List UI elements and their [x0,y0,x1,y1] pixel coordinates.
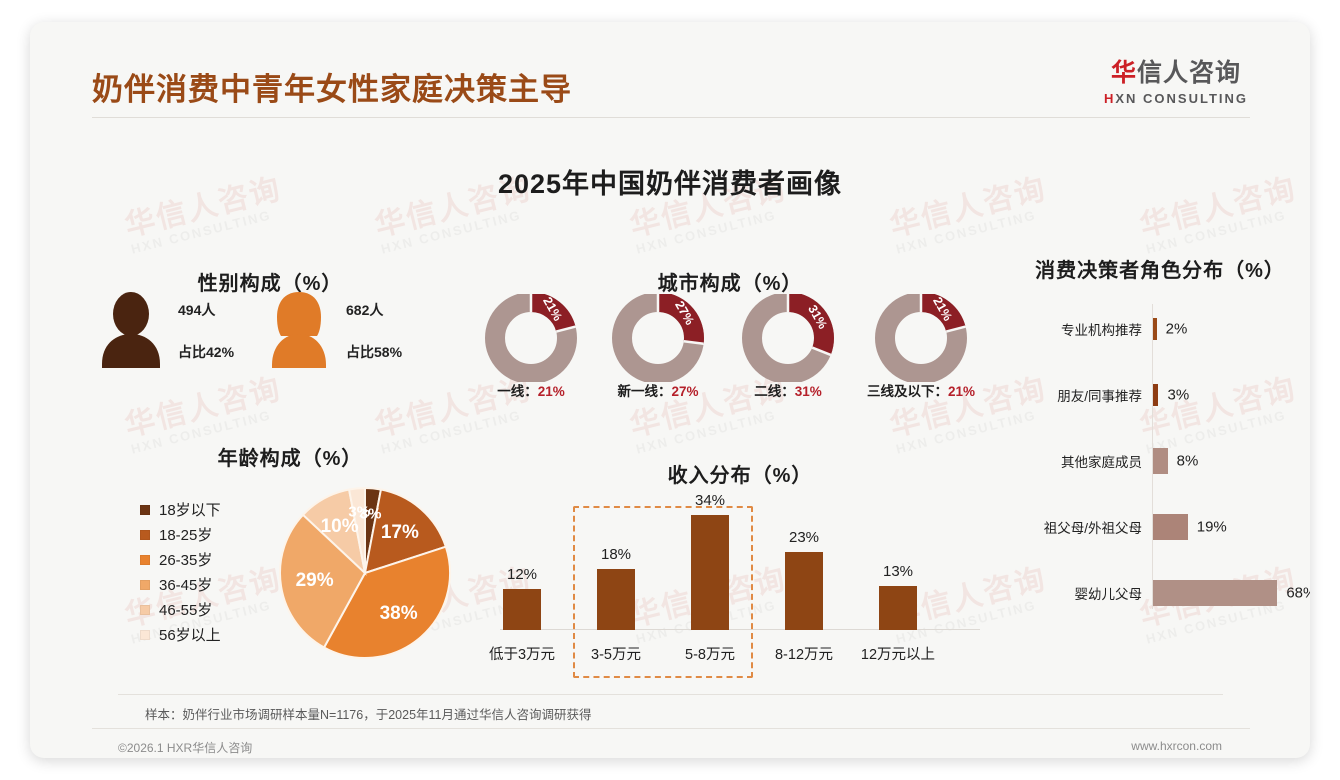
income-bar-value: 13% [883,563,913,580]
legend-item: 46-55岁 [140,597,221,622]
income-bar-value: 23% [789,529,819,546]
donut-caption: 三线及以下：21% [867,380,975,400]
income-bar-value: 34% [695,492,725,509]
age-pie: 3%17%38%29%10%3% [277,485,453,666]
city-donut: 27%新一线：27% [610,294,706,382]
legend-item: 26-35岁 [140,547,221,572]
role-label: 其他家庭成员 [1061,451,1142,471]
source-divider [118,694,1223,695]
role-row: 朋友/同事推荐3% [1015,380,1305,410]
role-bar-value: 2% [1166,321,1188,338]
legend-label: 18-25岁 [159,524,212,545]
donut-caption-name: 二线： [754,384,795,399]
role-row: 其他家庭成员8% [1015,446,1305,476]
female-silhouette-icon [268,290,330,368]
donut-graphic [483,294,579,382]
income-bar-value: 12% [507,566,537,583]
legend-swatch [140,630,150,640]
income-bar-value: 18% [601,546,631,563]
legend-label: 56岁以上 [159,624,221,645]
gender-share: 占比58% [346,342,402,362]
logo-rest-chars: 信人咨询 [1137,59,1241,87]
role-label: 祖父母/外祖父母 [1044,517,1142,537]
female-figure: 682人占比58% [268,290,330,368]
gender-share: 占比42% [178,342,234,362]
logo-h-char: H [1104,91,1115,106]
donut-graphic [873,294,969,382]
role-bar [1153,514,1188,540]
legend-item: 56岁以上 [140,622,221,647]
role-bar-value: 19% [1197,519,1227,536]
legend-label: 18岁以下 [159,499,221,520]
legend-item: 36-45岁 [140,572,221,597]
donut-graphic [740,294,836,382]
company-logo: 华信人咨询 HXN CONSULTING [1104,60,1248,106]
role-bar [1153,448,1168,474]
legend-label: 26-35岁 [159,549,212,570]
donut-caption-value: 27% [671,384,698,399]
city-composition-chart: 21%一线：21%27%新一线：27%31%二线：31%21%三线及以下：21% [465,294,995,404]
income-bar [503,589,541,630]
income-bar-category: 12万元以上 [861,643,935,664]
donut-caption-value: 21% [948,384,975,399]
legend-swatch [140,580,150,590]
header-divider [92,117,1250,118]
donut-caption-name: 一线： [497,384,538,399]
logo-en-rest: XN CONSULTING [1115,91,1248,106]
role-row: 祖父母/外祖父母19% [1015,512,1305,542]
pie-slice-label: 17% [381,522,419,544]
income-bar [785,552,823,630]
donut-caption: 一线：21% [497,380,565,400]
donut-caption-value: 31% [795,384,822,399]
donut-caption-value: 21% [538,384,565,399]
age-legend: 18岁以下18-25岁26-35岁36-45岁46-55岁56岁以上 [140,497,221,647]
age-composition-chart: 18岁以下18-25岁26-35岁36-45岁46-55岁56岁以上 3%17%… [115,477,465,677]
infographic-page: 华信人咨询HXN CONSULTING华信人咨询HXN CONSULTING华信… [0,0,1340,780]
role-row: 专业机构推荐2% [1015,314,1305,344]
role-label: 朋友/同事推荐 [1057,385,1142,405]
donut-caption-name: 新一线： [617,384,671,399]
source-note: 样本：奶伴行业市场调研样本量N=1176，于2025年11月通过华信人咨询调研获… [145,704,592,723]
pie-slice-label: 38% [380,603,418,625]
footer-website: www.hxrcon.com [1131,739,1222,753]
chart-main-title: 2025年中国奶伴消费者画像 [30,162,1310,201]
logo-english: HXN CONSULTING [1104,91,1248,106]
slide-card: 华信人咨询HXN CONSULTING华信人咨询HXN CONSULTING华信… [30,22,1310,758]
income-bar-category: 低于3万元 [489,643,555,664]
donut-graphic [610,294,706,382]
pie-slice-label: 3% [348,504,370,521]
donut-caption-name: 三线及以下： [867,384,948,399]
income-bar-category: 3-5万元 [591,643,641,664]
legend-swatch [140,605,150,615]
gender-stats: 494人占比42% [178,300,234,362]
decision-role-chart: 专业机构推荐2%朋友/同事推荐3%其他家庭成员8%祖父母/外祖父母19%婴幼儿父… [1015,292,1305,622]
income-bar [597,569,635,630]
legend-label: 46-55岁 [159,599,212,620]
age-section-title: 年龄构成（%） [115,442,465,471]
income-distribution-chart: 12%低于3万元18%3-5万元34%5-8万元23%8-12万元13%12万元… [480,462,1000,682]
donut-caption: 二线：31% [754,380,822,400]
role-label: 婴幼儿父母 [1075,583,1143,603]
logo-chinese: 华信人咨询 [1104,60,1248,88]
donut-caption: 新一线：27% [617,380,698,400]
legend-label: 36-45岁 [159,574,212,595]
city-section-title: 城市构成（%） [465,267,995,296]
legend-item: 18-25岁 [140,522,221,547]
pie-slice-label: 29% [296,570,334,592]
gender-count: 494人 [178,300,234,320]
gender-composition-chart: 494人占比42%682人占比58% [100,290,440,390]
legend-swatch [140,505,150,515]
city-donut: 21%三线及以下：21% [873,294,969,382]
role-row: 婴幼儿父母68% [1015,578,1305,608]
logo-hua-char: 华 [1111,59,1137,87]
male-silhouette-icon [100,290,162,368]
gender-count: 682人 [346,300,402,320]
footer-copyright: ©2026.1 HXR华信人咨询 [118,739,252,756]
city-donut: 21%一线：21% [483,294,579,382]
page-title: 奶伴消费中青年女性家庭决策主导 [92,64,572,109]
role-bar-value: 8% [1177,453,1199,470]
role-section-title: 消费决策者角色分布（%） [1015,254,1305,283]
income-bar-category: 8-12万元 [775,643,833,664]
role-bar [1153,384,1158,406]
income-bar [879,586,917,630]
legend-item: 18岁以下 [140,497,221,522]
legend-swatch [140,530,150,540]
income-bar-category: 5-8万元 [685,643,735,664]
city-donut: 31%二线：31% [740,294,836,382]
role-bar [1153,318,1157,340]
role-bar [1153,580,1277,606]
income-bar [691,515,729,630]
role-bar-value: 3% [1167,387,1189,404]
male-figure: 494人占比42% [100,290,162,368]
role-bar-value: 68% [1286,585,1310,602]
role-label: 专业机构推荐 [1061,319,1142,339]
gender-stats: 682人占比58% [346,300,402,362]
legend-swatch [140,555,150,565]
footer-divider [92,728,1250,729]
